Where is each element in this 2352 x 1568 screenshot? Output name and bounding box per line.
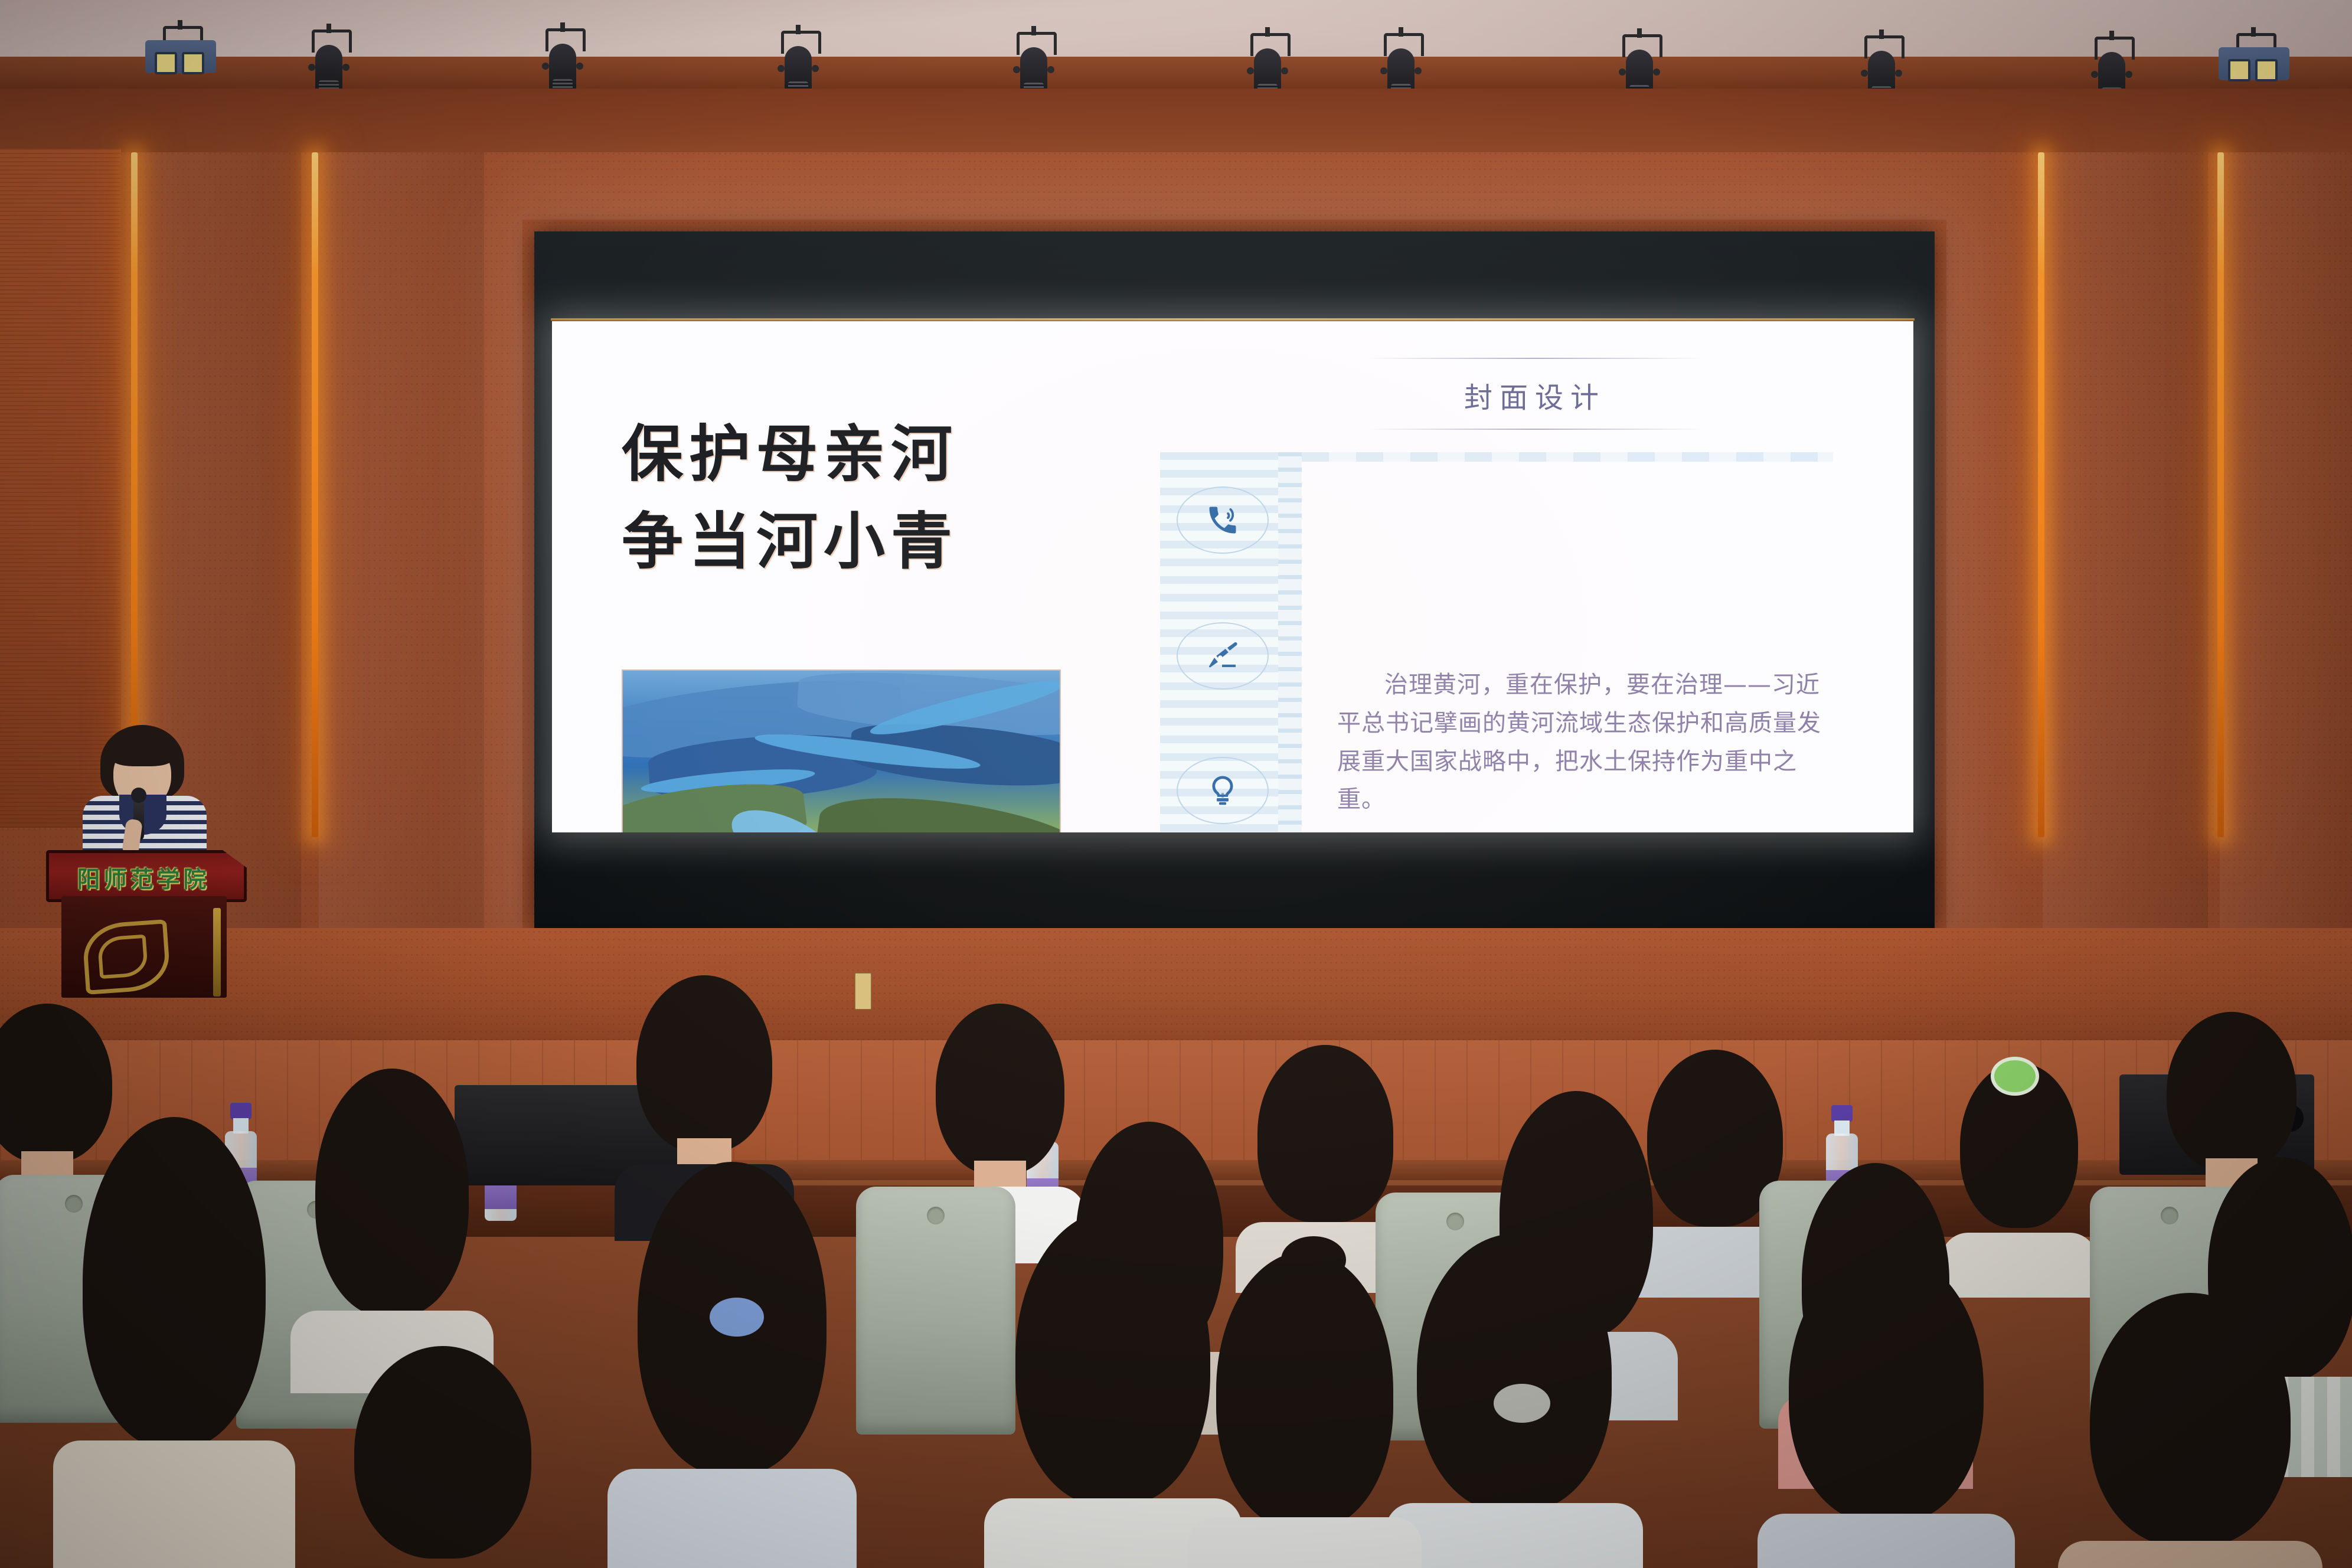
audience-person-b1	[315, 1069, 469, 1376]
wall-light-strip-4	[2217, 152, 2224, 837]
header-rule-bottom	[1367, 429, 1703, 430]
audience-person-c5	[1789, 1252, 1984, 1568]
hair-scrunchie-blue	[710, 1298, 764, 1337]
podium-gold-crest	[81, 919, 171, 995]
audience-person-c1-shirt	[53, 1440, 295, 1568]
screen-top-trim	[551, 318, 1915, 321]
audience-person-c6	[2090, 1293, 2291, 1568]
slide-section-header-text: 封面设计	[1367, 359, 1703, 429]
pen-nib-icon	[1177, 622, 1269, 690]
hair-bun	[1281, 1236, 1346, 1283]
wall-panel-4	[2220, 89, 2352, 974]
audience-person-c6-shirt	[2058, 1541, 2323, 1568]
hair-scrunchie-grey	[1494, 1384, 1550, 1423]
auditorium-scene: 保护母亲河 争当河小青 封面	[0, 0, 2352, 1568]
wall-panel-2	[319, 89, 484, 974]
audience-person-c2-ponytail	[638, 1162, 827, 1568]
lectern-podium: 阳师范学院	[46, 850, 241, 998]
wall-light-strip-3	[2038, 152, 2044, 837]
audience-person-a3	[1257, 1045, 1393, 1269]
wall-upper-band	[0, 89, 2352, 152]
phone-call-icon	[1177, 486, 1269, 554]
stage-light-blue-wash-left	[158, 26, 202, 97]
audience-person-c1	[83, 1117, 266, 1568]
audience-person-c4-shirt	[1386, 1503, 1643, 1568]
audience-person-c3	[1015, 1210, 1210, 1568]
audience-person-c8-shirt	[1188, 1517, 1422, 1568]
wall-outlet-plate	[855, 973, 871, 1010]
slide-photo-aerial-river	[622, 669, 1061, 832]
audience-person-c4	[1417, 1234, 1612, 1568]
slide-title: 保护母亲河 争当河小青	[622, 411, 1088, 585]
speaker-presenter	[83, 725, 207, 860]
audience-person-c5-shirt	[1758, 1514, 2015, 1568]
slide-icon-rail	[1160, 452, 1302, 832]
wall-panel-3	[2043, 89, 2208, 974]
audience-person-c8-bun	[1216, 1252, 1393, 1568]
speaker-fringe	[110, 740, 175, 766]
podium-school-name: 阳师范学院	[55, 861, 232, 894]
projected-slide[interactable]: 保护母亲河 争当河小青 封面	[552, 321, 1913, 832]
podium-gold-post	[213, 908, 221, 997]
projection-screen-frame: 保护母亲河 争当河小青 封面	[534, 231, 1935, 929]
stage-front-panel	[0, 928, 2352, 1040]
slide-body-text: 治理黄河，重在保护，要在治理——习近平总书记擘画的黄河流域生态保护和高质量发展重…	[1337, 666, 1827, 819]
audience-person-c7-left	[354, 1346, 531, 1568]
slide-title-line-2: 争当河小青	[622, 498, 1088, 586]
lightbulb-icon	[1177, 757, 1269, 824]
hair-scrunchie-green	[1991, 1057, 2039, 1096]
rail-ladder-texture	[1278, 452, 1302, 832]
podium-name-plate: 阳师范学院	[46, 850, 247, 902]
audience-person-a5-with-green-scrunchie	[1960, 1063, 2078, 1275]
ceiling-beam	[0, 57, 2352, 93]
auditorium-chair-b3[interactable]	[856, 1187, 1015, 1435]
podium-body	[61, 896, 227, 998]
slide-section-header: 封面设计	[1367, 358, 1703, 430]
slide-decorative-topline	[1302, 452, 1833, 462]
audience-person-c2-shirt	[607, 1469, 857, 1568]
wall-light-strip-2	[312, 152, 318, 837]
slide-title-line-1: 保护母亲河	[622, 411, 1088, 498]
